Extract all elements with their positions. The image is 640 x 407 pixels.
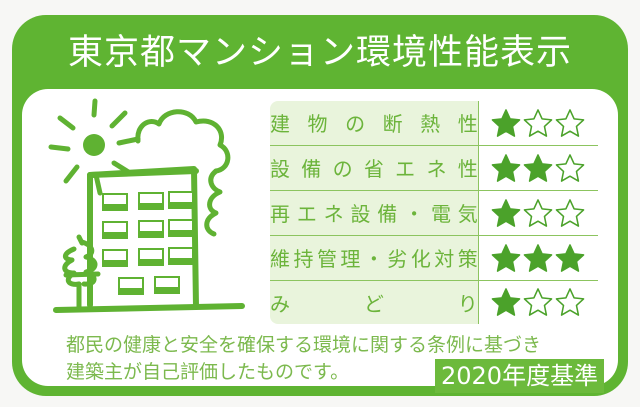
rating-row: 建物の断熱性 [269,100,599,145]
star-empty-icon [523,108,553,138]
ground-line [56,306,242,310]
rating-category-label: みどり [269,280,478,325]
rating-stars [478,100,599,145]
star-empty-icon [555,198,585,228]
rating-stars [478,235,599,280]
balcony-windows [102,191,194,295]
page-title: 東京都マンション環境性能表示 [12,32,628,74]
star-filled-icon [491,198,521,228]
standard-year-badge: 2020年度基準 [435,359,604,393]
rating-category-label: 設備の省エネ性 [269,145,478,190]
eco-apartment-illustration [46,97,266,335]
star-empty-icon [523,287,553,317]
performance-rating-table: 建物の断熱性設備の省エネ性再エネ設備・電気維持管理・劣化対策みどり [268,99,600,326]
star-empty-icon [523,198,553,228]
rating-stars [478,145,599,190]
rating-row: みどり [269,280,599,325]
star-filled-icon [523,243,553,273]
disclaimer-line-1: 都民の健康と安全を確保する環境に関する条例に基づき [66,332,541,359]
star-filled-icon [491,153,521,183]
rating-category-label: 維持管理・劣化対策 [269,235,478,280]
star-filled-icon [491,287,521,317]
environmental-performance-label-card: 東京都マンション環境性能表示 [12,15,628,396]
rating-row: 再エネ設備・電気 [269,190,599,235]
rating-stars [478,280,599,325]
star-filled-icon [555,243,585,273]
star-filled-icon [491,108,521,138]
star-filled-icon [491,243,521,273]
star-empty-icon [555,153,585,183]
star-empty-icon [555,108,585,138]
star-filled-icon [523,153,553,183]
star-empty-icon [555,287,585,317]
rating-stars [478,190,599,235]
sun-icon [51,101,138,193]
rating-category-label: 建物の断熱性 [269,100,478,145]
label-inner-panel: 建物の断熱性設備の省エネ性再エネ設備・電気維持管理・劣化対策みどり 都民の健康と… [22,89,618,386]
rating-category-label: 再エネ設備・電気 [269,190,478,235]
rating-row: 設備の省エネ性 [269,145,599,190]
tree-icon [65,237,98,307]
rating-row: 維持管理・劣化対策 [269,235,599,280]
